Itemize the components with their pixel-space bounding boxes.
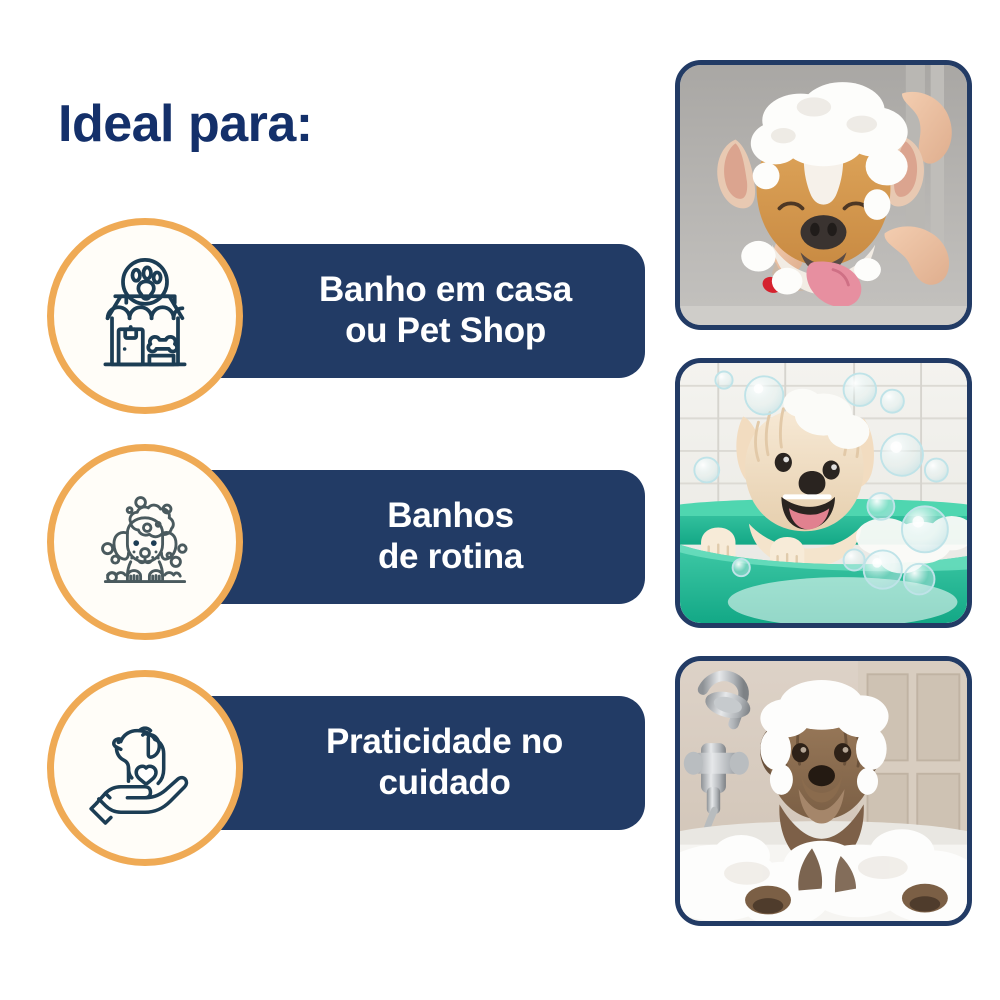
photo-image: [680, 363, 967, 623]
feature-item-banhos-de-rotina[interactable]: Banhos de rotina: [0, 442, 660, 652]
feature-icon-badge: [47, 670, 243, 866]
feature-icon-badge: [47, 218, 243, 414]
dog-with-foam-icon: [79, 476, 211, 608]
photo-corgi-shampoo: [675, 60, 972, 330]
pet-shop-storefront-icon: [79, 250, 211, 382]
photo-terrier-bathtub-foam: [675, 656, 972, 926]
feature-label: Banho em casa ou Pet Shop: [319, 270, 572, 351]
feature-list: Banho em casa ou Pet Shop: [0, 0, 660, 1000]
poster-canvas: Ideal para: Banho em casa ou Pet Shop: [0, 0, 1000, 1000]
feature-label: Banhos de rotina: [378, 496, 523, 577]
photo-column: [675, 60, 972, 928]
photo-image: [680, 661, 967, 921]
photo-dog-green-tub-bubbles: [675, 358, 972, 628]
feature-label: Praticidade no cuidado: [326, 722, 563, 803]
feature-item-banho-casa-petshop[interactable]: Banho em casa ou Pet Shop: [0, 216, 660, 426]
hand-holding-dog-heart-icon: [79, 702, 211, 834]
feature-item-praticidade-no-cuidado[interactable]: Praticidade no cuidado: [0, 668, 660, 878]
feature-icon-badge: [47, 444, 243, 640]
photo-image: [680, 65, 967, 325]
